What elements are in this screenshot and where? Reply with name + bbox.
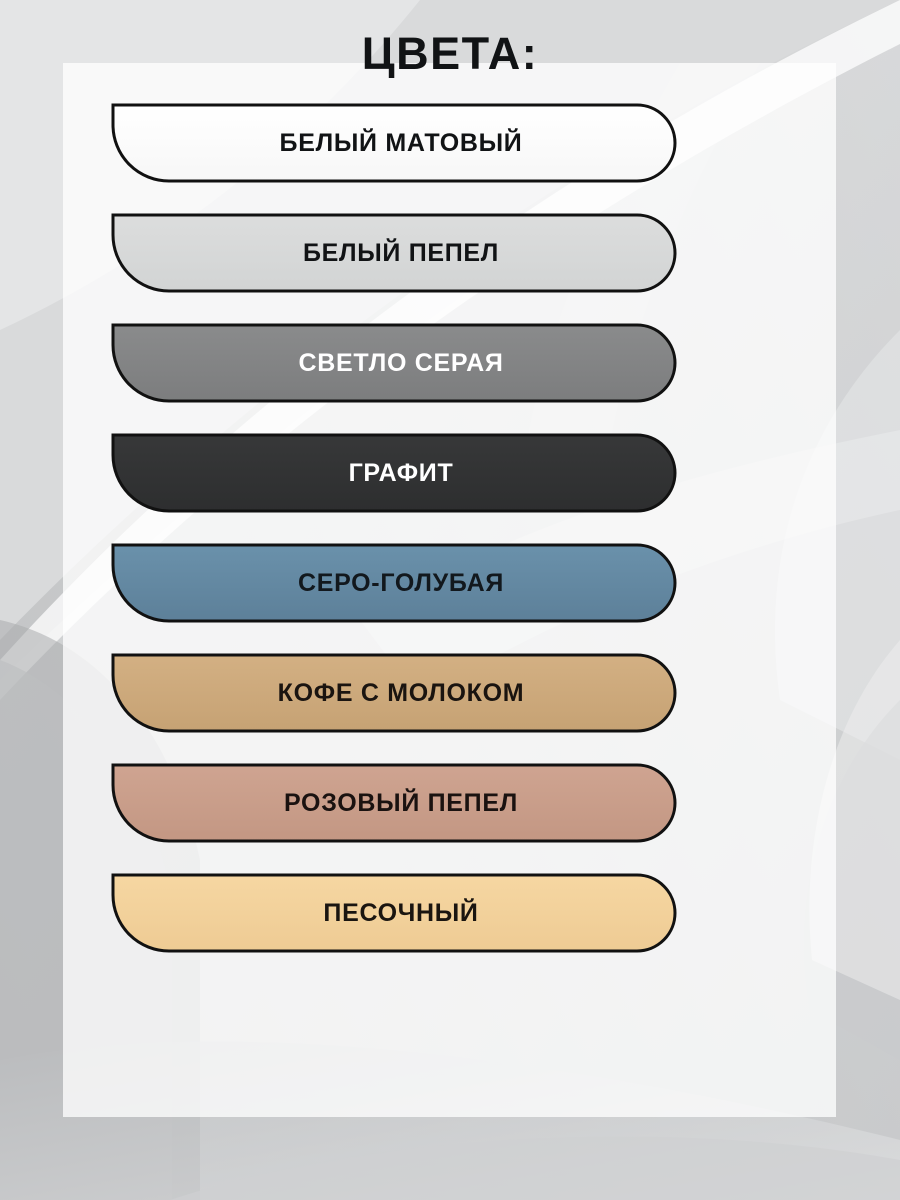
color-swatch-row[interactable]: КОФЕ С МОЛОКОМ bbox=[109, 652, 679, 734]
swatch-shape bbox=[109, 542, 679, 624]
swatch-shape bbox=[109, 102, 679, 184]
color-swatch-row[interactable]: РОЗОВЫЙ ПЕПЕЛ bbox=[109, 762, 679, 844]
color-swatch-row[interactable]: СЕРО-ГОЛУБАЯ bbox=[109, 542, 679, 624]
color-swatch-list: БЕЛЫЙ МАТОВЫЙ БЕЛЫЙ ПЕПЕЛ СВЕТЛО СЕРАЯ Г… bbox=[109, 102, 679, 954]
color-swatch-row[interactable]: ГРАФИТ bbox=[109, 432, 679, 514]
swatch-shape bbox=[109, 762, 679, 844]
color-swatch-row[interactable]: БЕЛЫЙ ПЕПЕЛ bbox=[109, 212, 679, 294]
swatch-shape bbox=[109, 872, 679, 954]
color-swatch-row[interactable]: БЕЛЫЙ МАТОВЫЙ bbox=[109, 102, 679, 184]
color-chart-stage: ЦВЕТА: БЕЛЫЙ МАТОВЫЙ БЕЛЫЙ ПЕПЕЛ СВЕТЛО … bbox=[0, 0, 900, 1200]
page-title: ЦВЕТА: bbox=[0, 28, 900, 80]
swatch-shape bbox=[109, 212, 679, 294]
swatch-shape bbox=[109, 652, 679, 734]
swatch-shape bbox=[109, 432, 679, 514]
swatch-shape bbox=[109, 322, 679, 404]
color-swatch-row[interactable]: СВЕТЛО СЕРАЯ bbox=[109, 322, 679, 404]
color-swatch-row[interactable]: ПЕСОЧНЫЙ bbox=[109, 872, 679, 954]
